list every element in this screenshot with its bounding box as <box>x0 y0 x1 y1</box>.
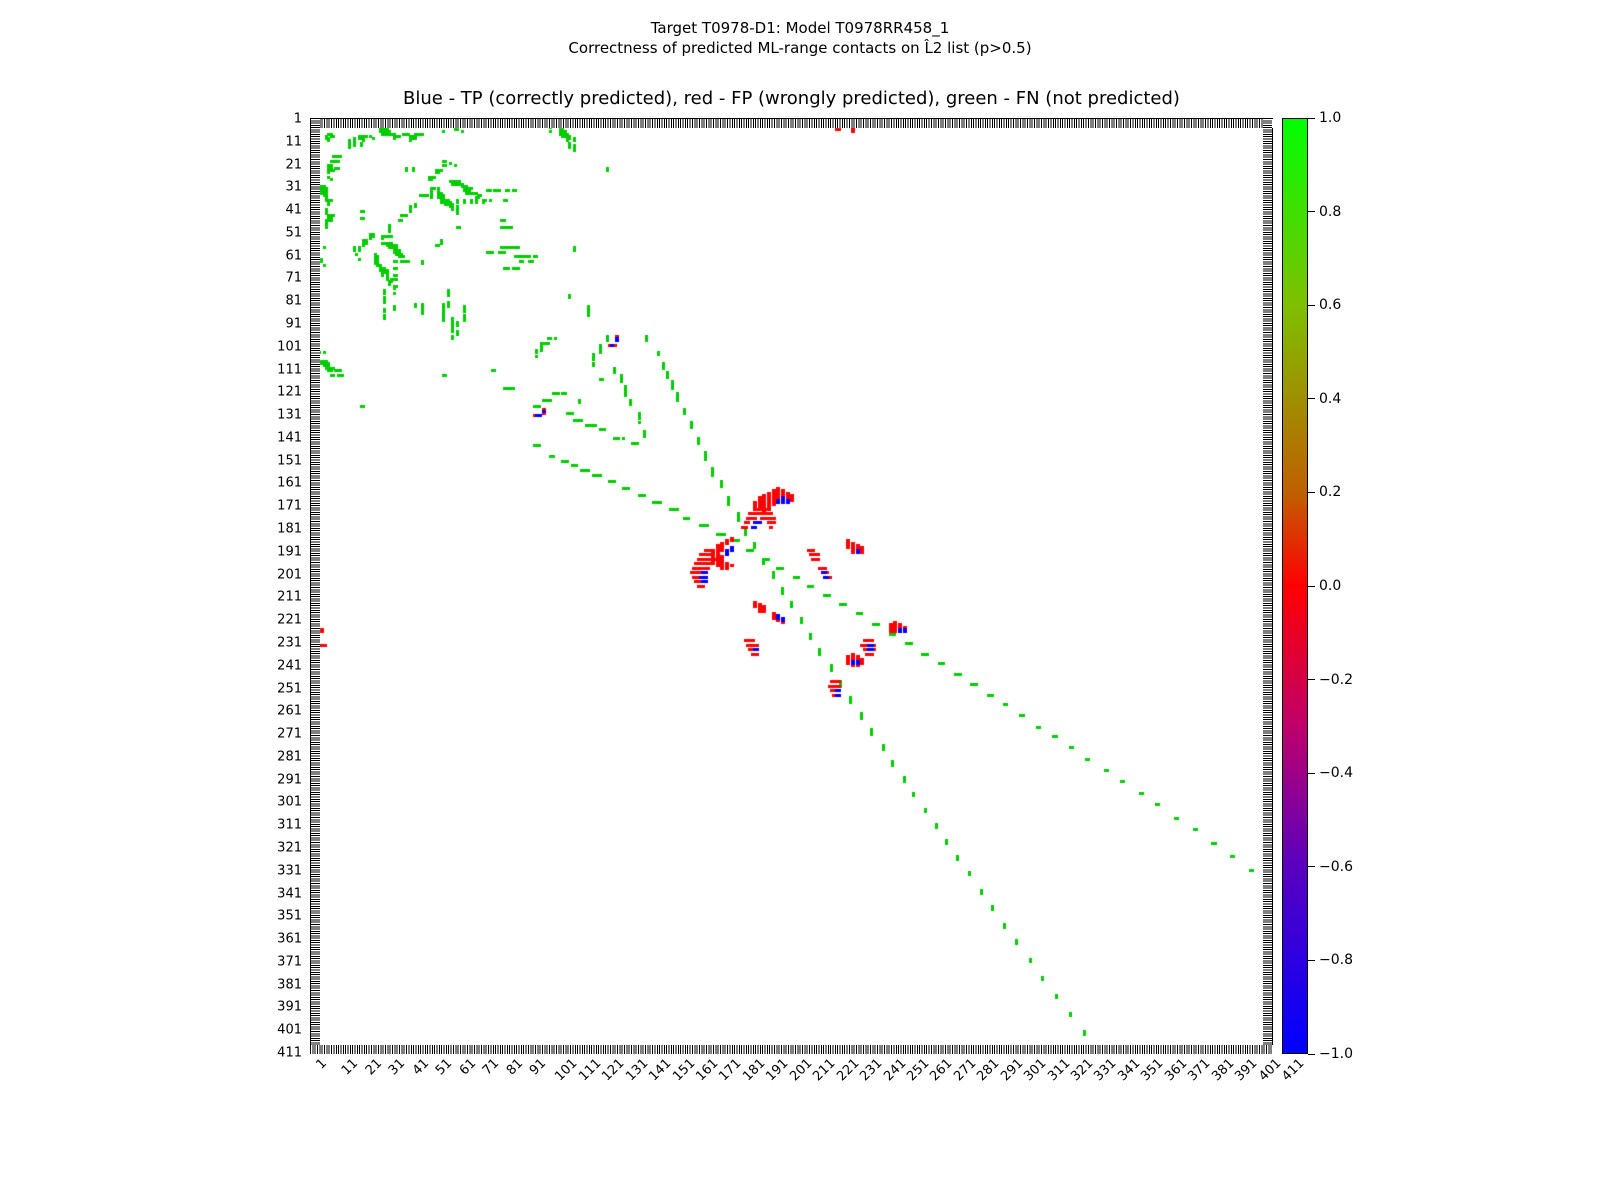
colorbar-tick-mark <box>1308 1054 1315 1055</box>
y-axis-tick-label: 411 <box>277 1046 302 1061</box>
x-axis-tick-label: 11 <box>339 1056 361 1078</box>
x-axis-tick-label: 171 <box>717 1056 745 1084</box>
colorbar-tick-mark <box>1308 960 1315 961</box>
colorbar-tick-text: −0.6 <box>1319 859 1353 875</box>
y-axis-tick-label: 201 <box>277 567 302 582</box>
colorbar-tick-mark <box>1308 211 1315 212</box>
chart-title-block: Target T0978-D1: Model T0978RR458_1 Corr… <box>0 18 1600 58</box>
x-axis-tick-label: 251 <box>904 1056 932 1084</box>
x-axis-tick-label: 381 <box>1209 1056 1237 1084</box>
colorbar-tick: −0.2 <box>1308 672 1378 688</box>
y-axis-tick-label: 91 <box>285 317 302 332</box>
x-axis-tick-label: 231 <box>857 1056 885 1084</box>
colorbar-tick-mark <box>1308 679 1315 680</box>
colorbar-tick-text: −1.0 <box>1319 1046 1353 1062</box>
colorbar-tick-text: −0.4 <box>1319 765 1353 781</box>
x-axis-tick-label: 41 <box>410 1056 432 1078</box>
x-axis-tick-label: 321 <box>1068 1056 1096 1084</box>
colorbar-tick: 1.0 <box>1308 110 1378 126</box>
y-axis-tick-label: 231 <box>277 635 302 650</box>
x-axis-tick-label: 161 <box>693 1056 721 1084</box>
x-axis-tick-label: 311 <box>1045 1056 1073 1084</box>
x-axis-tick-label: 361 <box>1162 1056 1190 1084</box>
colorbar-tick-text: 1.0 <box>1319 110 1341 126</box>
x-axis-tick-label: 401 <box>1256 1056 1284 1084</box>
y-axis-minor-ticks-left <box>311 118 320 1054</box>
chart-legend-line: Blue - TP (correctly predicted), red - F… <box>310 88 1273 109</box>
colorbar-tick: −0.8 <box>1308 952 1378 968</box>
x-axis-tick-label: 151 <box>670 1056 698 1084</box>
y-axis-tick-label: 151 <box>277 453 302 468</box>
contact-map-canvas <box>311 119 1272 1053</box>
colorbar-tick-mark <box>1308 305 1315 306</box>
y-axis-tick-label: 391 <box>277 1000 302 1015</box>
x-axis-tick-label: 341 <box>1115 1056 1143 1084</box>
colorbar-tick-text: −0.8 <box>1319 952 1353 968</box>
y-axis-tick-label: 211 <box>277 590 302 605</box>
colorbar-tick-mark <box>1308 118 1315 119</box>
x-axis-tick-label: 331 <box>1092 1056 1120 1084</box>
y-axis-tick-label: 361 <box>277 932 302 947</box>
colorbar-tick: −0.4 <box>1308 765 1378 781</box>
y-axis-tick-label: 241 <box>277 658 302 673</box>
x-axis-tick-label: 21 <box>363 1056 385 1078</box>
x-axis-tick-label: 281 <box>975 1056 1003 1084</box>
x-axis-tick-label: 291 <box>998 1056 1026 1084</box>
y-axis-tick-label: 161 <box>277 476 302 491</box>
colorbar-tick-text: 0.8 <box>1319 204 1341 220</box>
y-axis-tick-label: 271 <box>277 727 302 742</box>
y-axis-tick-label: 111 <box>277 362 302 377</box>
y-axis-tick-label: 121 <box>277 385 302 400</box>
x-axis-tick-label: 71 <box>480 1056 502 1078</box>
x-axis-tick-label: 351 <box>1139 1056 1167 1084</box>
colorbar-tick-text: 0.2 <box>1319 484 1341 500</box>
colorbar-tick-text: 0.6 <box>1319 297 1341 313</box>
y-axis-tick-label: 381 <box>277 977 302 992</box>
colorbar-tick-text: 0.4 <box>1319 391 1341 407</box>
y-axis-tick-label: 61 <box>285 248 302 263</box>
x-axis-tick-label: 261 <box>928 1056 956 1084</box>
x-axis-minor-ticks-top <box>310 119 1273 128</box>
x-axis-minor-ticks-bottom <box>310 1045 1273 1054</box>
x-axis-tick-label: 101 <box>553 1056 581 1084</box>
y-axis-tick-label: 171 <box>277 499 302 514</box>
colorbar-tick: 0.2 <box>1308 484 1378 500</box>
x-axis-tick-label: 61 <box>456 1056 478 1078</box>
x-axis-tick-label: 1 <box>313 1056 329 1072</box>
y-axis-tick-label: 291 <box>277 772 302 787</box>
y-axis-tick-label: 41 <box>285 203 302 218</box>
y-axis-tick-label: 71 <box>285 271 302 286</box>
colorbar-tick: −0.6 <box>1308 859 1378 875</box>
x-axis-tick-label: 131 <box>623 1056 651 1084</box>
x-axis-tick-label: 201 <box>787 1056 815 1084</box>
x-axis-tick-label: 411 <box>1279 1056 1307 1084</box>
y-axis-tick-label: 281 <box>277 749 302 764</box>
x-axis-tick-label: 91 <box>527 1056 549 1078</box>
y-axis-tick-label: 21 <box>285 157 302 172</box>
colorbar-tick-mark <box>1308 866 1315 867</box>
y-axis-labels: 1112131415161718191101111121131141151161… <box>240 118 302 1054</box>
y-axis-tick-label: 311 <box>277 818 302 833</box>
colorbar-tick-text: 0.0 <box>1319 578 1341 594</box>
colorbar-tick-text: −0.2 <box>1319 672 1353 688</box>
y-axis-tick-label: 331 <box>277 863 302 878</box>
y-axis-tick-label: 31 <box>285 180 302 195</box>
y-axis-tick-label: 181 <box>277 522 302 537</box>
x-axis-tick-label: 221 <box>834 1056 862 1084</box>
x-axis-tick-label: 371 <box>1186 1056 1214 1084</box>
colorbar-tick: 0.4 <box>1308 391 1378 407</box>
x-axis-tick-label: 211 <box>810 1056 838 1084</box>
y-axis-tick-label: 251 <box>277 681 302 696</box>
y-axis-tick-label: 261 <box>277 704 302 719</box>
y-axis-tick-label: 1 <box>294 112 302 127</box>
x-axis-tick-label: 271 <box>951 1056 979 1084</box>
y-axis-tick-label: 51 <box>285 225 302 240</box>
colorbar-tick: 0.8 <box>1308 204 1378 220</box>
y-axis-minor-ticks-right <box>1263 118 1272 1054</box>
x-axis-tick-label: 191 <box>764 1056 792 1084</box>
y-axis-tick-label: 101 <box>277 339 302 354</box>
y-axis-tick-label: 221 <box>277 613 302 628</box>
x-axis-tick-label: 81 <box>503 1056 525 1078</box>
colorbar-tick: −1.0 <box>1308 1046 1378 1062</box>
colorbar-tick-mark <box>1308 398 1315 399</box>
y-axis-tick-label: 141 <box>277 430 302 445</box>
contact-map-plot <box>310 118 1273 1054</box>
x-axis-tick-label: 121 <box>600 1056 628 1084</box>
y-axis-tick-label: 341 <box>277 886 302 901</box>
x-axis-tick-label: 301 <box>1021 1056 1049 1084</box>
y-axis-tick-label: 371 <box>277 954 302 969</box>
x-axis-tick-label: 391 <box>1232 1056 1260 1084</box>
colorbar-tick-labels: 1.00.80.60.40.20.0−0.2−0.4−0.6−0.8−1.0 <box>1308 118 1378 1054</box>
y-axis-tick-label: 81 <box>285 294 302 309</box>
x-axis-tick-label: 181 <box>740 1056 768 1084</box>
y-axis-tick-label: 401 <box>277 1023 302 1038</box>
y-axis-tick-label: 131 <box>277 408 302 423</box>
colorbar-tick-mark <box>1308 492 1315 493</box>
x-axis-tick-label: 141 <box>646 1056 674 1084</box>
x-axis-labels: 1112131415161718191101111121131141151161… <box>310 1056 1273 1146</box>
y-axis-tick-label: 321 <box>277 840 302 855</box>
y-axis-tick-label: 351 <box>277 909 302 924</box>
x-axis-tick-label: 111 <box>576 1056 604 1084</box>
x-axis-tick-label: 31 <box>386 1056 408 1078</box>
colorbar-tick: 0.0 <box>1308 578 1378 594</box>
colorbar-tick-mark <box>1308 586 1315 587</box>
colorbar-tick-mark <box>1308 773 1315 774</box>
x-axis-tick-label: 241 <box>881 1056 909 1084</box>
y-axis-tick-label: 301 <box>277 795 302 810</box>
y-axis-tick-label: 191 <box>277 544 302 559</box>
chart-title-line2: Correctness of predicted ML-range contac… <box>0 38 1600 58</box>
x-axis-tick-label: 51 <box>433 1056 455 1078</box>
colorbar <box>1282 118 1308 1054</box>
y-axis-tick-label: 11 <box>285 134 302 149</box>
colorbar-tick: 0.6 <box>1308 297 1378 313</box>
chart-title-line1: Target T0978-D1: Model T0978RR458_1 <box>0 18 1600 38</box>
